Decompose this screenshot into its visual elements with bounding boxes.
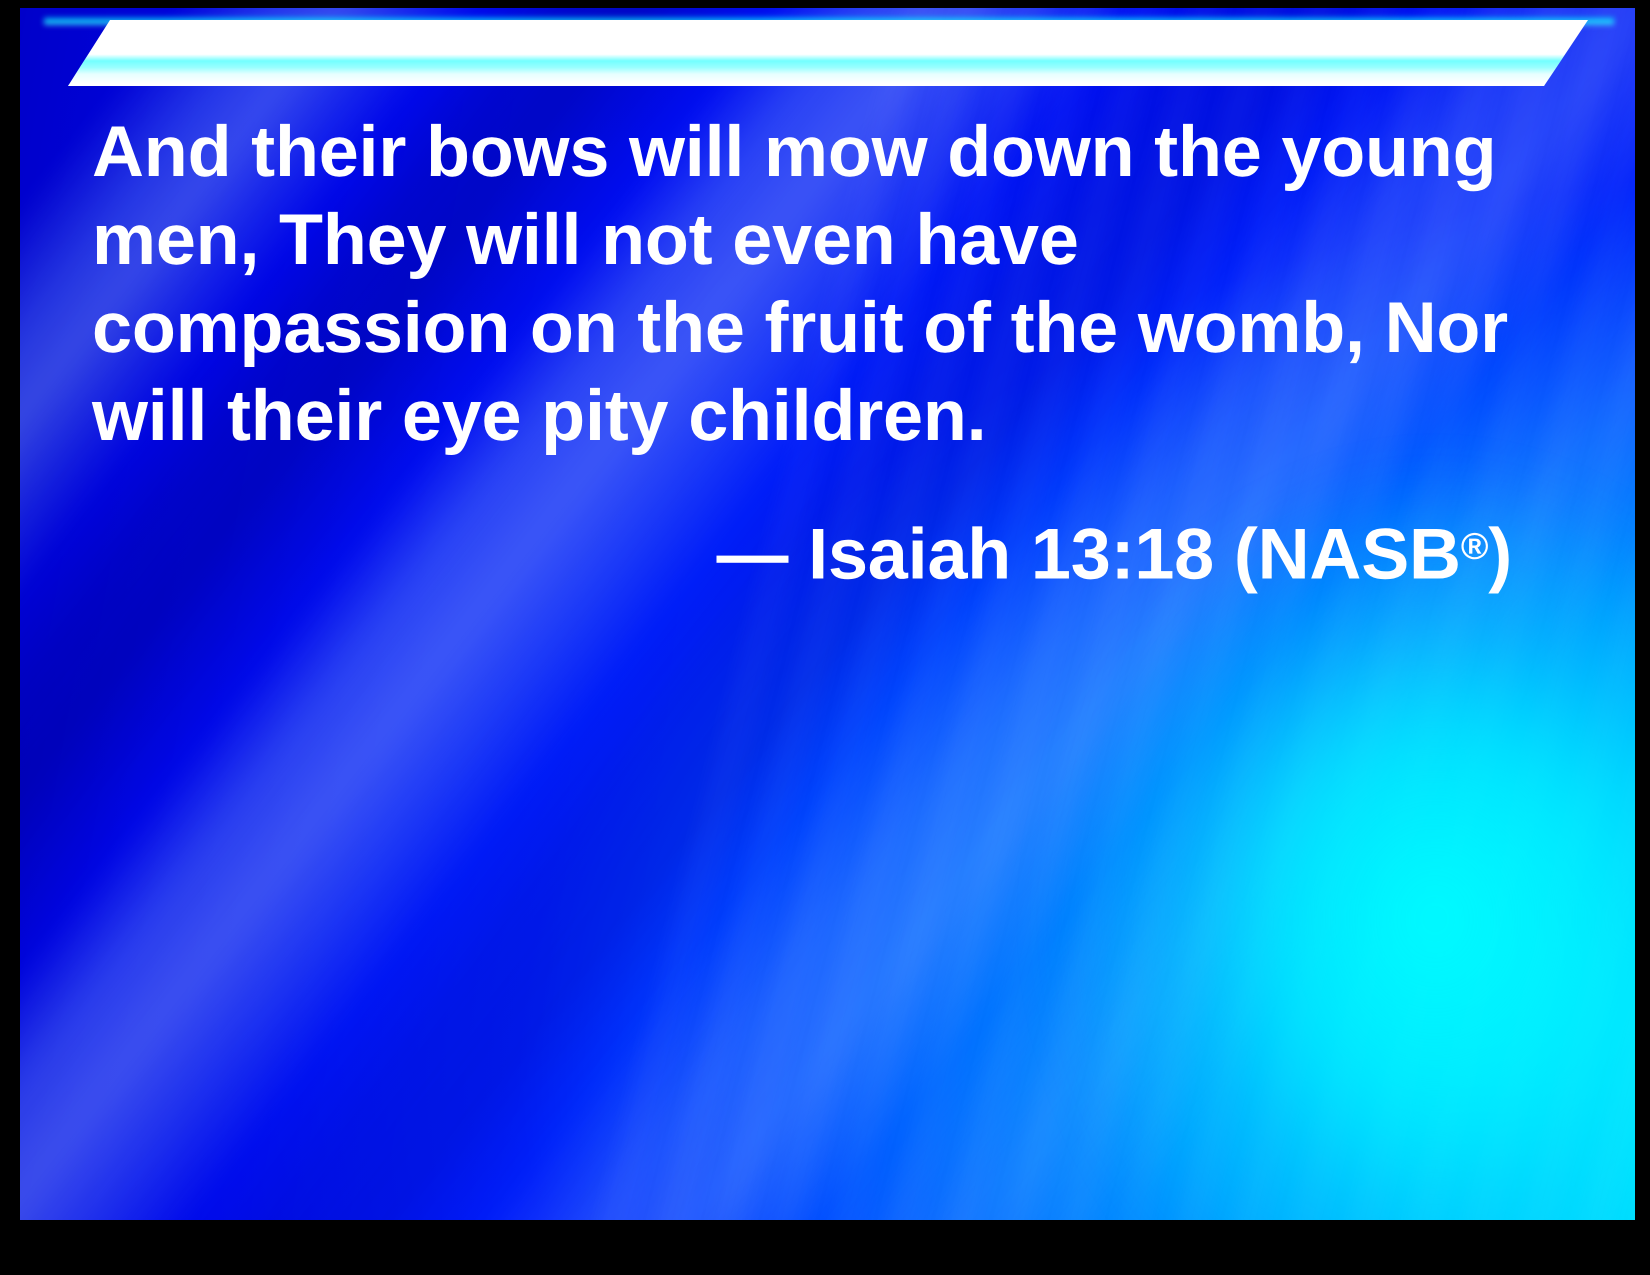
attribution-translation-open: (NASB — [1234, 514, 1461, 594]
verse-text-block: And their bows will mow down the young m… — [92, 108, 1512, 598]
attribution-translation-close: ) — [1488, 514, 1512, 594]
top-glow-bar — [68, 20, 1588, 86]
attribution-dash: — — [717, 514, 789, 594]
slide-artwork-panel: And their bows will mow down the young m… — [20, 8, 1635, 1220]
top-glow-bar-cyan-streak — [68, 20, 1588, 86]
verse-body-text: And their bows will mow down the young m… — [92, 108, 1512, 460]
registered-trademark-icon: ® — [1461, 525, 1488, 567]
attribution-reference: Isaiah 13:18 — [808, 514, 1214, 594]
verse-slide: And their bows will mow down the young m… — [0, 0, 1650, 1275]
verse-attribution: — Isaiah 13:18 (NASB®) — [92, 502, 1512, 598]
